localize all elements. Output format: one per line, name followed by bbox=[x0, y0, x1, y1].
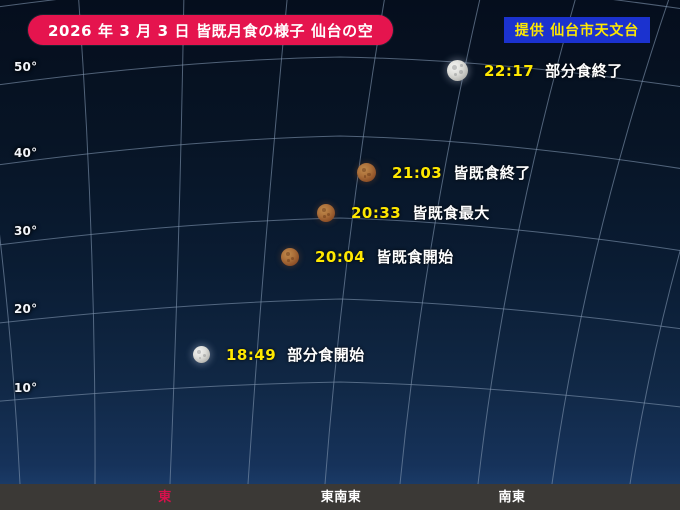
event-time: 20:04 bbox=[315, 248, 365, 266]
moon-icon-eclipsed bbox=[317, 204, 335, 222]
provider-badge: 提供 仙台市天文台 bbox=[504, 17, 650, 43]
compass-label-east-southeast: 東南東 bbox=[321, 486, 362, 505]
altitude-tick-20: 20° bbox=[14, 302, 37, 316]
event-time: 20:33 bbox=[351, 204, 401, 222]
event-time: 22:17 bbox=[484, 62, 534, 80]
altitude-tick-30: 30° bbox=[14, 224, 37, 238]
moon-icon-eclipsed bbox=[281, 248, 299, 266]
event-label: 皆既食開始 bbox=[376, 246, 454, 267]
moon-icon-eclipsed bbox=[357, 163, 376, 182]
lunar-eclipse-sky-chart: 50° 40° 30° 20° 10° 2026 年 3 月 3 日 皆既月食の… bbox=[0, 0, 680, 510]
moon-icon-bright bbox=[193, 346, 210, 363]
eclipse-event-2103: 21:03 皆既食終了 bbox=[357, 162, 531, 183]
moon-icon-bright bbox=[447, 60, 468, 81]
event-label: 皆既食最大 bbox=[412, 202, 490, 223]
altitude-tick-50: 50° bbox=[14, 60, 37, 74]
event-label: 部分食開始 bbox=[287, 344, 365, 365]
eclipse-event-2004: 20:04 皆既食開始 bbox=[281, 246, 454, 267]
event-label: 部分食終了 bbox=[545, 60, 623, 81]
event-time: 18:49 bbox=[226, 346, 276, 364]
chart-title-badge: 2026 年 3 月 3 日 皆既月食の様子 仙台の空 bbox=[28, 15, 393, 45]
eclipse-event-2033: 20:33 皆既食最大 bbox=[317, 202, 490, 223]
event-label: 皆既食終了 bbox=[453, 162, 531, 183]
eclipse-event-2217: 22:17 部分食終了 bbox=[447, 60, 623, 81]
chart-title-text: 2026 年 3 月 3 日 皆既月食の様子 仙台の空 bbox=[48, 20, 373, 41]
altitude-tick-40: 40° bbox=[14, 146, 37, 160]
provider-text: 提供 仙台市天文台 bbox=[515, 20, 639, 40]
event-time: 21:03 bbox=[392, 164, 442, 182]
compass-label-southeast: 南東 bbox=[498, 486, 525, 505]
eclipse-event-1849: 18:49 部分食開始 bbox=[193, 344, 365, 365]
altitude-tick-10: 10° bbox=[14, 381, 37, 395]
compass-label-east: 東 bbox=[158, 486, 172, 505]
